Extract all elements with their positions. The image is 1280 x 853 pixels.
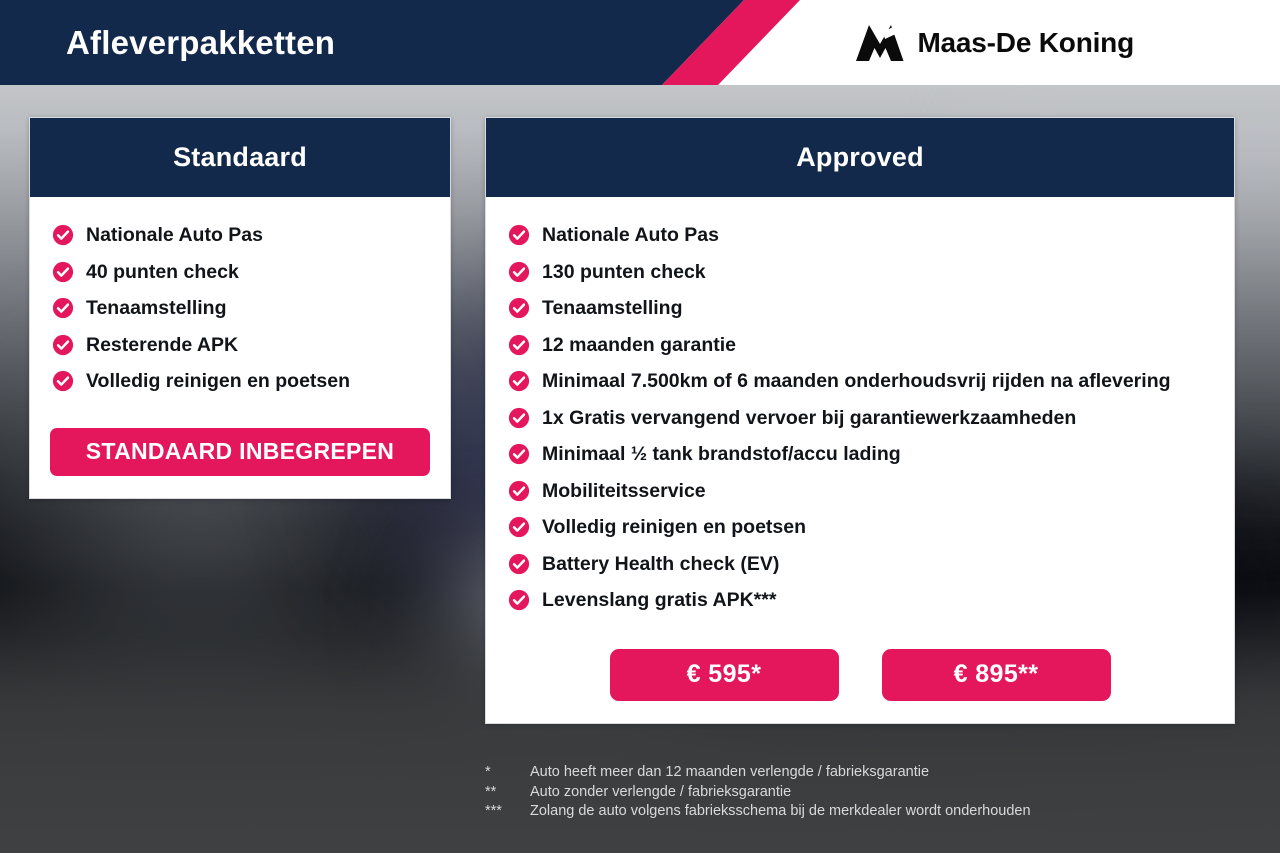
feature-item: Nationale Auto Pas bbox=[50, 217, 430, 254]
poster-canvas: Afleverpakketten Maas-De Koning Standaar… bbox=[0, 0, 1280, 853]
check-circle-icon bbox=[508, 553, 530, 575]
maas-de-koning-m-logo-icon bbox=[854, 24, 904, 62]
feature-item: 12 maanden garantie bbox=[506, 327, 1214, 364]
feature-item: Resterende APK bbox=[50, 327, 430, 364]
standaard-included-button[interactable]: STANDAARD INBEGREPEN bbox=[50, 428, 430, 476]
footnote-marker: *** bbox=[485, 802, 530, 822]
feature-label: 1x Gratis vervangend vervoer bij garanti… bbox=[542, 400, 1076, 437]
page-title: Afleverpakketten bbox=[66, 0, 335, 85]
feature-label: Tenaamstelling bbox=[86, 290, 227, 327]
feature-label: Levenslang gratis APK*** bbox=[542, 582, 776, 619]
feature-item: Volledig reinigen en poetsen bbox=[506, 509, 1214, 546]
feature-item: Nationale Auto Pas bbox=[506, 217, 1214, 254]
footnote-marker: ** bbox=[485, 783, 530, 803]
footnote-text: Auto heeft meer dan 12 maanden verlengde… bbox=[530, 763, 1245, 783]
feature-label: Battery Health check (EV) bbox=[542, 546, 779, 583]
feature-label: 130 punten check bbox=[542, 254, 706, 291]
check-circle-icon bbox=[508, 480, 530, 502]
feature-item: Minimaal ½ tank brandstof/accu lading bbox=[506, 436, 1214, 473]
check-circle-icon bbox=[52, 334, 74, 356]
package-body-approved: Nationale Auto Pas130 punten checkTenaam… bbox=[486, 197, 1234, 723]
check-circle-icon bbox=[508, 297, 530, 319]
feature-item: Mobiliteitsservice bbox=[506, 473, 1214, 510]
feature-label: Mobiliteitsservice bbox=[542, 473, 706, 510]
feature-label: 40 punten check bbox=[86, 254, 239, 291]
check-circle-icon bbox=[508, 261, 530, 283]
check-circle-icon bbox=[508, 407, 530, 429]
feature-label: 12 maanden garantie bbox=[542, 327, 736, 364]
check-circle-icon bbox=[508, 516, 530, 538]
feature-list-standaard: Nationale Auto Pas40 punten checkTenaams… bbox=[50, 217, 430, 400]
feature-item: Minimaal 7.500km of 6 maanden onderhouds… bbox=[506, 363, 1214, 400]
feature-label: Minimaal ½ tank brandstof/accu lading bbox=[542, 436, 901, 473]
feature-label: Tenaamstelling bbox=[542, 290, 683, 327]
footnote-text: Zolang de auto volgens fabrieksschema bi… bbox=[530, 802, 1245, 822]
feature-item: Volledig reinigen en poetsen bbox=[50, 363, 430, 400]
footnote-marker: * bbox=[485, 763, 530, 783]
footnote-text: Auto zonder verlengde / fabrieksgarantie bbox=[530, 783, 1245, 803]
feature-item: Tenaamstelling bbox=[506, 290, 1214, 327]
feature-label: Resterende APK bbox=[86, 327, 238, 364]
feature-list-approved: Nationale Auto Pas130 punten checkTenaam… bbox=[506, 217, 1214, 619]
footnote-block: *Auto heeft meer dan 12 maanden verlengd… bbox=[485, 763, 1245, 822]
feature-item: 40 punten check bbox=[50, 254, 430, 291]
package-title: Approved bbox=[796, 142, 924, 173]
check-circle-icon bbox=[52, 370, 74, 392]
footnote-row: ***Zolang de auto volgens fabrieksschema… bbox=[485, 802, 1245, 822]
footnote-row: *Auto heeft meer dan 12 maanden verlengd… bbox=[485, 763, 1245, 783]
brand-lockup: Maas-De Koning bbox=[854, 0, 1134, 85]
feature-label: Nationale Auto Pas bbox=[542, 217, 719, 254]
package-body-standaard: Nationale Auto Pas40 punten checkTenaams… bbox=[30, 197, 450, 498]
feature-item: Battery Health check (EV) bbox=[506, 546, 1214, 583]
package-header-approved: Approved bbox=[486, 118, 1234, 197]
package-header-standaard: Standaard bbox=[30, 118, 450, 197]
brand-name: Maas-De Koning bbox=[917, 27, 1134, 59]
price-button-2[interactable]: € 895** bbox=[882, 649, 1111, 701]
feature-item: 1x Gratis vervangend vervoer bij garanti… bbox=[506, 400, 1214, 437]
feature-item: Levenslang gratis APK*** bbox=[506, 582, 1214, 619]
check-circle-icon bbox=[52, 224, 74, 246]
package-card-standaard: Standaard Nationale Auto Pas40 punten ch… bbox=[29, 117, 451, 499]
package-title: Standaard bbox=[173, 142, 307, 173]
feature-label: Volledig reinigen en poetsen bbox=[542, 509, 806, 546]
package-card-approved: Approved Nationale Auto Pas130 punten ch… bbox=[485, 117, 1235, 724]
check-circle-icon bbox=[508, 334, 530, 356]
check-circle-icon bbox=[508, 589, 530, 611]
check-circle-icon bbox=[508, 224, 530, 246]
price-button-row: € 595*€ 895** bbox=[506, 649, 1214, 701]
feature-label: Minimaal 7.500km of 6 maanden onderhouds… bbox=[542, 363, 1171, 400]
check-circle-icon bbox=[52, 297, 74, 319]
check-circle-icon bbox=[508, 370, 530, 392]
footnote-row: **Auto zonder verlengde / fabrieksgarant… bbox=[485, 783, 1245, 803]
check-circle-icon bbox=[52, 261, 74, 283]
price-button-1[interactable]: € 595* bbox=[610, 649, 839, 701]
check-circle-icon bbox=[508, 443, 530, 465]
feature-item: 130 punten check bbox=[506, 254, 1214, 291]
page-header: Afleverpakketten Maas-De Koning bbox=[0, 0, 1280, 85]
feature-item: Tenaamstelling bbox=[50, 290, 430, 327]
feature-label: Volledig reinigen en poetsen bbox=[86, 363, 350, 400]
feature-label: Nationale Auto Pas bbox=[86, 217, 263, 254]
